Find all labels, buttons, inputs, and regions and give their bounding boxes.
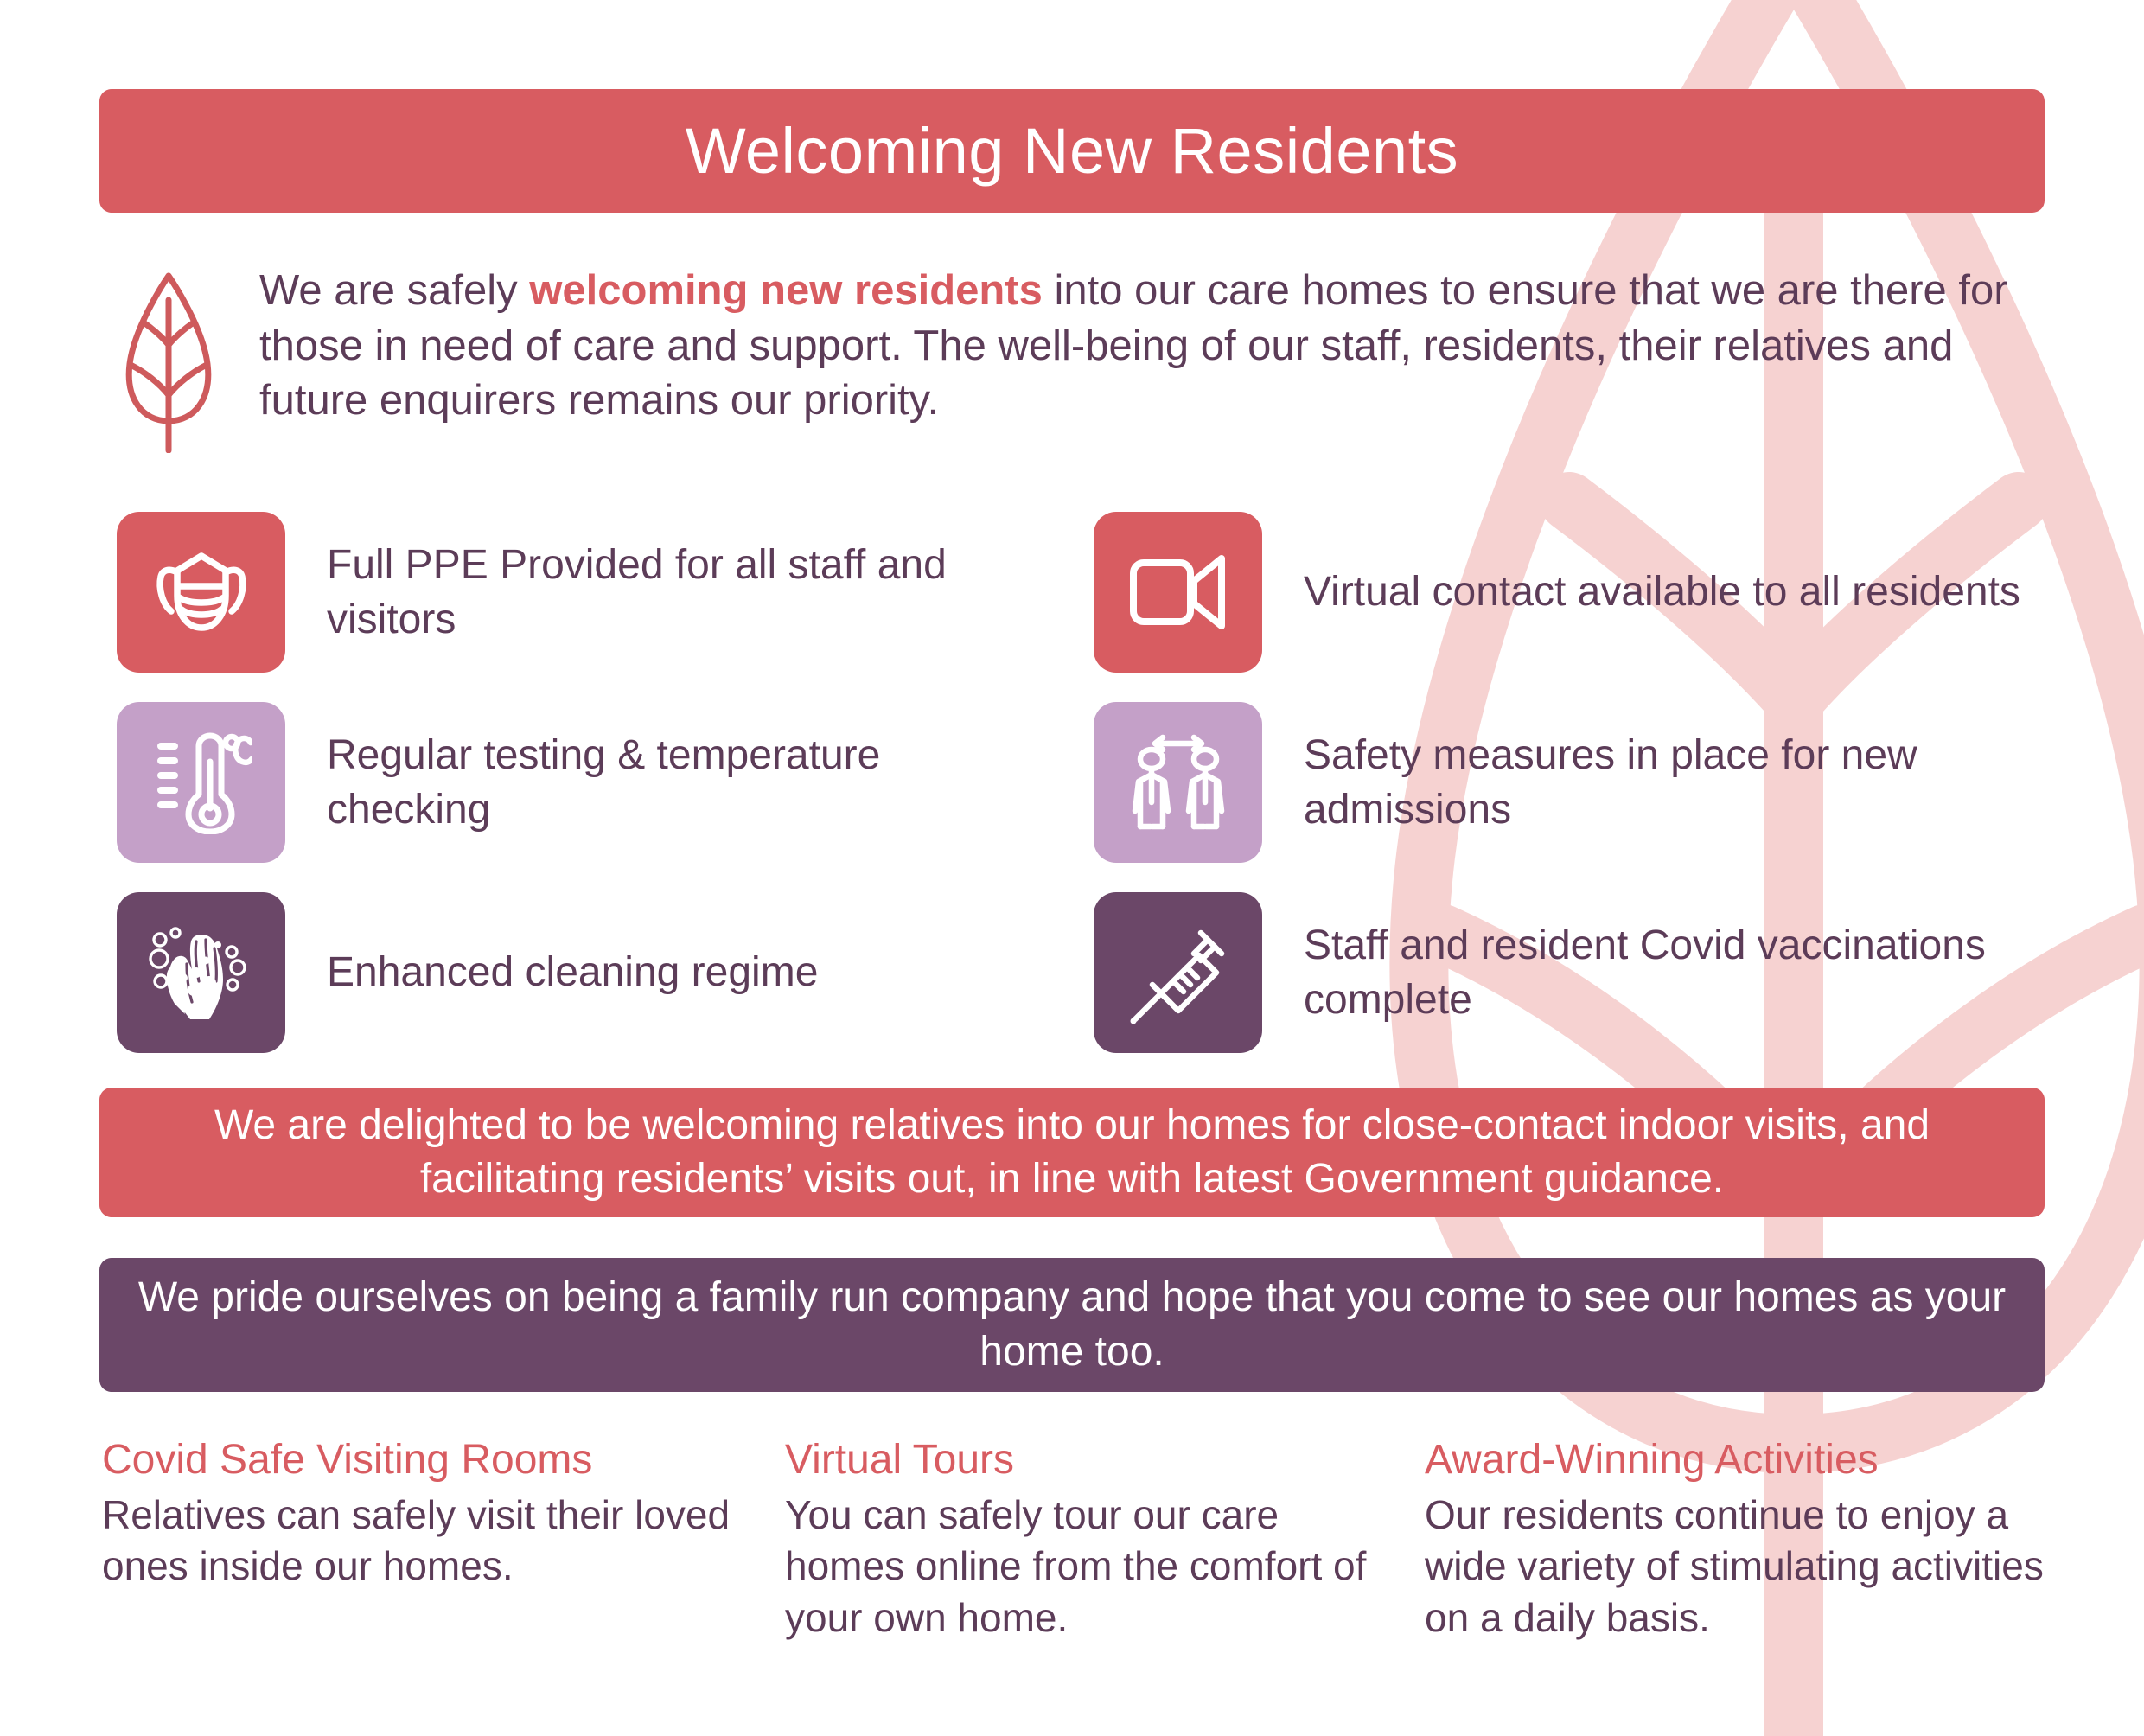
bottom-column-title: Virtual Tours bbox=[785, 1435, 1390, 1486]
feature-label: Safety measures in place for new admissi… bbox=[1304, 728, 2021, 838]
video-camera-icon bbox=[1094, 512, 1262, 673]
feature-item-ppe: Full PPE Provided for all staff and visi… bbox=[117, 497, 1094, 687]
bottom-column-virtual-tours: Virtual Tours You can safely tour our ca… bbox=[785, 1435, 1425, 1644]
bottom-column-body: Our residents continue to enjoy a wide v… bbox=[1425, 1490, 2047, 1644]
feature-grid: Full PPE Provided for all staff and visi… bbox=[117, 497, 2079, 1068]
leaf-icon bbox=[121, 267, 216, 453]
bottom-column-body: You can safely tour our care homes onlin… bbox=[785, 1490, 1390, 1644]
feature-item-cleaning: Enhanced cleaning regime bbox=[117, 878, 1094, 1068]
infographic-canvas: Welcoming New Residents We are safely we… bbox=[0, 0, 2144, 1736]
intro-section: We are safely welcoming new residents in… bbox=[121, 264, 2066, 453]
feature-item-safety-measures: Safety measures in place for new admissi… bbox=[1094, 687, 2079, 878]
feature-label: Virtual contact available to all residen… bbox=[1304, 565, 2020, 619]
social-distancing-icon bbox=[1094, 702, 1262, 863]
bottom-column-activities: Award-Winning Activities Our residents c… bbox=[1425, 1435, 2082, 1644]
syringe-icon bbox=[1094, 892, 1262, 1053]
feature-item-vaccinations: Staff and resident Covid vaccinations co… bbox=[1094, 878, 2079, 1068]
bottom-columns: Covid Safe Visiting Rooms Relatives can … bbox=[102, 1435, 2082, 1644]
visiting-announcement-banner: We are delighted to be welcoming relativ… bbox=[99, 1088, 2045, 1217]
thermometer-celsius-icon bbox=[117, 702, 285, 863]
header-banner: Welcoming New Residents bbox=[99, 89, 2045, 213]
bottom-column-body: Relatives can safely visit their loved o… bbox=[102, 1490, 750, 1593]
family-company-banner: We pride ourselves on being a family run… bbox=[99, 1258, 2045, 1392]
bottom-column-title: Award-Winning Activities bbox=[1425, 1435, 2047, 1486]
intro-highlight: welcoming new residents bbox=[529, 267, 1043, 314]
banner-red-text: We are delighted to be welcoming relativ… bbox=[134, 1099, 2010, 1207]
banner-purple-text: We pride ourselves on being a family run… bbox=[134, 1271, 2010, 1379]
feature-label: Enhanced cleaning regime bbox=[327, 945, 818, 999]
face-mask-icon bbox=[117, 512, 285, 673]
bottom-column-visiting-rooms: Covid Safe Visiting Rooms Relatives can … bbox=[102, 1435, 785, 1644]
intro-paragraph: We are safely welcoming new residents in… bbox=[259, 264, 2014, 429]
feature-label: Full PPE Provided for all staff and visi… bbox=[327, 538, 1044, 648]
intro-text-part1: We are safely bbox=[259, 267, 529, 314]
feature-item-testing: Regular testing & temperature checking bbox=[117, 687, 1094, 878]
bottom-column-title: Covid Safe Visiting Rooms bbox=[102, 1435, 750, 1486]
feature-label: Staff and resident Covid vaccinations co… bbox=[1304, 918, 2021, 1028]
page-title: Welcoming New Residents bbox=[686, 119, 1458, 183]
feature-item-virtual-contact: Virtual contact available to all residen… bbox=[1094, 497, 2079, 687]
feature-label: Regular testing & temperature checking bbox=[327, 728, 1044, 838]
hand-washing-icon bbox=[117, 892, 285, 1053]
